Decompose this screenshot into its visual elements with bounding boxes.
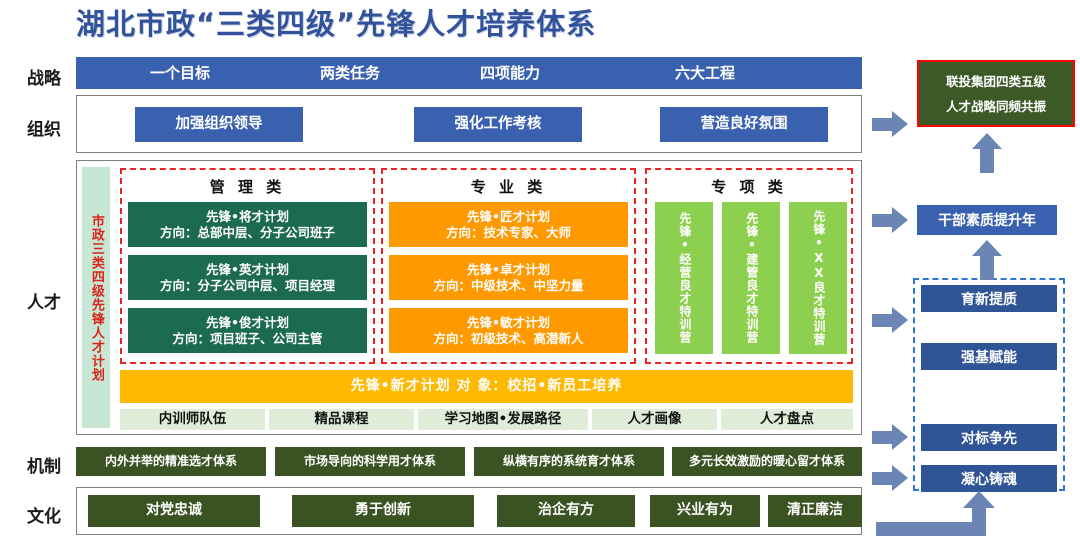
pillar-item-4[interactable]: 凝心铸魂 — [921, 465, 1057, 492]
plan-card-mincai[interactable]: 先锋•敏才计划方向：初级技术、高潜新人 — [389, 308, 628, 353]
cadre-year-card[interactable]: 干部素质提升年 — [917, 205, 1057, 235]
plan-direction: 方向：分子公司中层、项目经理 — [160, 278, 335, 294]
diagram-canvas: 湖北市政“三类四级”先锋人才培养体系 战略 组织 人才 机制 文化 一个目标 两… — [0, 0, 1080, 543]
camp-card-jingying[interactable]: 先锋•经营良才特训营 — [655, 202, 713, 354]
culture-item-3[interactable]: 治企有方 — [497, 495, 635, 527]
row-label-talent: 人才 — [18, 288, 70, 313]
mechanism-item-1[interactable]: 内外并举的精准选才体系 — [76, 447, 266, 476]
main-goal-line2: 人才战略同频共振 — [946, 94, 1046, 119]
plan-card-zhuocai[interactable]: 先锋•卓才计划方向：中级技术、中坚力量 — [389, 255, 628, 300]
organization-item-3[interactable]: 营造良好氛围 — [660, 107, 828, 142]
strategy-item-1[interactable]: 一个目标 — [100, 57, 260, 89]
arrow-culture-to-pillar4-icon — [872, 465, 912, 492]
culture-item-2[interactable]: 勇于创新 — [292, 495, 474, 527]
arrow-pillars-to-cadre-icon — [972, 240, 1002, 280]
mechanism-item-3[interactable]: 纵横有序的系统育才体系 — [474, 447, 664, 476]
plan-direction: 方向：中级技术、中坚力量 — [433, 278, 583, 294]
plan-direction: 方向：初级技术、高潜新人 — [433, 331, 583, 347]
culture-item-5[interactable]: 清正廉洁 — [768, 495, 862, 527]
arrow-talent-to-cadre-icon — [872, 207, 912, 234]
row-label-mechanism: 机制 — [18, 452, 70, 477]
arrow-org-to-goal-icon — [872, 111, 912, 138]
plan-direction: 方向：项目班子、公司主管 — [172, 331, 322, 347]
plan-card-yingcai[interactable]: 先锋•英才计划方向：分子公司中层、项目经理 — [128, 255, 367, 300]
arrow-bottom-shaft-v-icon — [972, 508, 986, 528]
page-title: 湖北市政“三类四级”先锋人才培养体系 — [76, 4, 776, 44]
plan-card-jiangcai-pro[interactable]: 先锋•匠才计划方向：技术专家、大师 — [389, 202, 628, 247]
category-title-management: 管 理 类 — [120, 176, 375, 197]
arrow-mechanism-to-pillar3-icon — [872, 424, 912, 451]
plan-card-jiangcai[interactable]: 先锋•将才计划方向：总部中层、分子公司班子 — [128, 202, 367, 247]
arrow-bottom-shaft-h-icon — [876, 522, 986, 536]
plan-direction: 方向：技术专家、大师 — [446, 225, 571, 241]
row-label-organization: 组织 — [18, 115, 70, 140]
arrow-bottom-head-icon — [963, 491, 995, 508]
pillar-item-3[interactable]: 对标争先 — [921, 424, 1057, 451]
strategy-item-4[interactable]: 六大工程 — [625, 57, 785, 89]
arrow-cadre-to-goal-icon — [972, 133, 1002, 173]
organization-item-2[interactable]: 强化工作考核 — [414, 107, 582, 142]
support-item-2[interactable]: 精品课程 — [269, 409, 414, 430]
plan-name: 先锋•将才计划 — [160, 209, 335, 225]
support-item-3[interactable]: 学习地图•发展路径 — [418, 409, 588, 430]
plan-name: 先锋•英才计划 — [160, 262, 335, 278]
organization-item-1[interactable]: 加强组织领导 — [135, 107, 303, 142]
support-item-5[interactable]: 人才盘点 — [721, 409, 853, 430]
plan-name: 先锋•匠才计划 — [446, 209, 571, 225]
pillar-item-2[interactable]: 强基赋能 — [921, 343, 1057, 370]
category-title-special: 专 项 类 — [645, 176, 853, 197]
camp-card-jianguan[interactable]: 先锋•建管良才特训营 — [722, 202, 780, 354]
row-label-strategy: 战略 — [18, 64, 70, 89]
arrow-talent-to-pillar1-icon — [872, 307, 912, 334]
category-title-professional: 专 业 类 — [381, 176, 636, 197]
main-goal-card[interactable]: 联投集团四类五级 人才战略同频共振 — [917, 60, 1075, 127]
culture-item-1[interactable]: 对党忠诚 — [88, 495, 260, 527]
plan-direction: 方向：总部中层、分子公司班子 — [160, 225, 335, 241]
support-item-4[interactable]: 人才画像 — [592, 409, 717, 430]
plan-name: 先锋•俊才计划 — [172, 315, 322, 331]
culture-item-4[interactable]: 兴业有为 — [650, 495, 760, 527]
talent-vertical-label: 市政三类四级先锋人才计划 — [82, 167, 110, 428]
pillar-item-1[interactable]: 育新提质 — [921, 285, 1057, 312]
plan-name: 先锋•卓才计划 — [433, 262, 583, 278]
strategy-item-2[interactable]: 两类任务 — [270, 57, 430, 89]
plan-name: 先锋•敏才计划 — [433, 315, 583, 331]
mechanism-item-4[interactable]: 多元长效激励的暖心留才体系 — [672, 447, 862, 476]
support-item-1[interactable]: 内训师队伍 — [120, 409, 265, 430]
strategy-item-3[interactable]: 四项能力 — [430, 57, 590, 89]
main-goal-line1: 联投集团四类五级 — [946, 69, 1046, 94]
mechanism-item-2[interactable]: 市场导向的科学用才体系 — [275, 447, 465, 476]
new-plan-bar[interactable]: 先锋•新才计划 对 象：校招•新员工培养 — [120, 370, 853, 403]
camp-card-xx[interactable]: 先锋•XX良才特训营 — [789, 202, 847, 354]
row-label-culture: 文化 — [18, 502, 70, 527]
plan-card-juncai[interactable]: 先锋•俊才计划方向：项目班子、公司主管 — [128, 308, 367, 353]
